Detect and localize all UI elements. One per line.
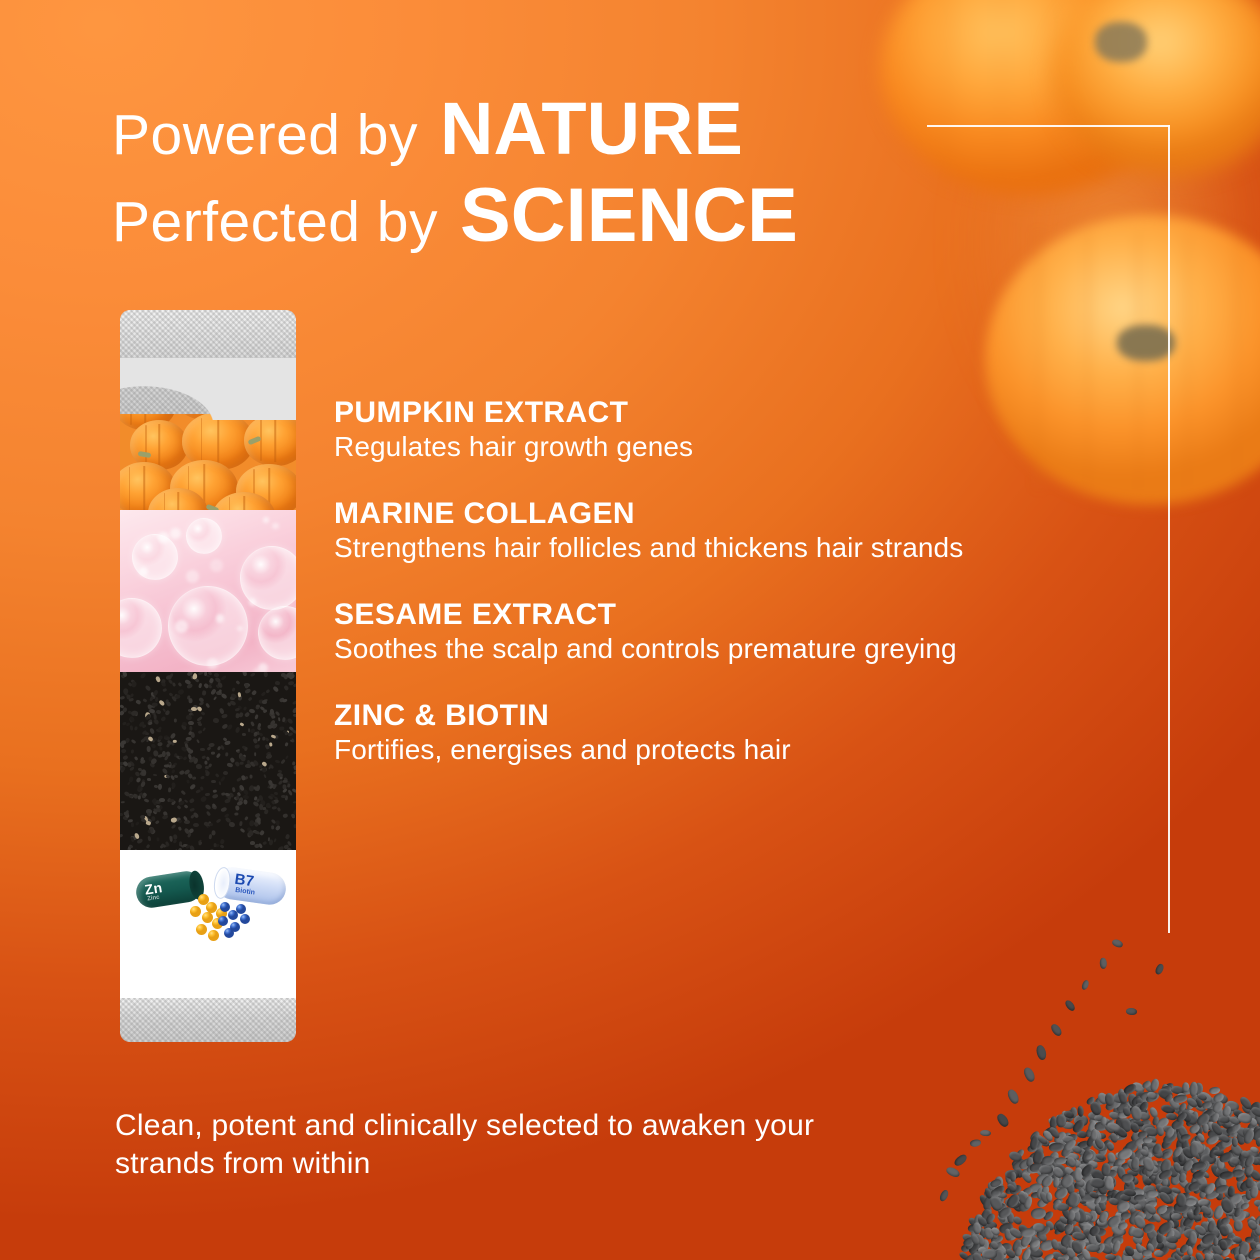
sesame-seed [197,722,202,726]
sesame-seed [218,781,221,785]
sesame-seed [244,816,249,821]
sesame-seed [204,702,210,708]
sesame-seed [130,749,134,754]
sesame-seed [287,783,291,787]
biotin-granule [218,916,228,926]
sesame-seed [131,739,137,745]
sesame-seed [219,707,225,714]
sesame-seed [293,801,296,804]
sesame-seed [265,689,270,694]
sesame-seed [202,690,206,695]
sesame-seed [220,775,226,782]
sesame-seed [293,771,296,775]
sesame-seed [1056,1202,1069,1211]
sesame-seed [274,680,279,685]
sesame-seed [249,721,254,727]
bokeh-dot [207,658,218,669]
sesame-seed [166,743,171,748]
sesame-seed [263,774,266,778]
sesame-seed [152,703,158,707]
sesame-seed [153,774,157,777]
sesame-seed [213,696,217,701]
sesame-seed [283,685,289,691]
sesame-seed [155,820,160,825]
pumpkin-stem-icon [1117,325,1175,361]
sesame-seed [235,727,240,734]
sesame-seed [273,838,277,842]
sesame-seed [127,781,131,785]
sesame-seed [240,828,246,834]
zinc-granule [208,930,219,941]
sesame-seed [133,756,138,761]
sesame-seed [1126,1008,1138,1016]
sesame-seed [157,741,163,746]
biotin-capsule-sublabel: Biotin [235,887,256,897]
sesame-seed [181,790,186,795]
capsule-panel: Zn Zinc B7 Biotin [120,850,296,998]
bokeh-dot [170,528,181,539]
sesame-seed [1080,979,1090,991]
sesame-seed [242,672,247,676]
sesame-seed [141,738,146,743]
sesame-seed [272,825,275,829]
sesame-seed [183,805,188,810]
sesame-seed [280,759,285,764]
sesame-seed [242,733,247,736]
sesame-seed [121,741,126,745]
sesame-seed [204,761,207,765]
sesame-seed [214,672,220,676]
sesame-seed [1142,1249,1152,1256]
sesame-seed [243,706,248,711]
sesame-seed [164,709,170,715]
sesame-seed [274,759,280,763]
sesame-seed [285,742,289,746]
sesame-seed [1050,1022,1064,1037]
ingredient-title: PUMPKIN EXTRACT [334,396,1014,429]
ingredient-description: Soothes the scalp and controls premature… [334,633,994,665]
sesame-seed [282,699,288,704]
sesame-seed [150,743,157,749]
sesame-seed [159,746,163,750]
sesame-seed [200,748,205,751]
ingredient-item: PUMPKIN EXTRACTRegulates hair growth gen… [334,396,1014,463]
sesame-seed [121,801,125,804]
sesame-seed [257,817,261,823]
sesame-seed [198,683,202,688]
sesame-seed [161,814,168,820]
sesame-seed [945,1165,961,1178]
sesame-seed [172,683,176,688]
sesame-seed [982,1249,997,1259]
sesame-seed [214,773,220,779]
sesame-seed [146,820,152,825]
bokeh-dot [186,570,199,583]
sesame-seed [171,824,177,830]
sesame-seed [193,823,199,827]
sesame-seed [953,1153,969,1168]
sesame-seed [1100,958,1107,969]
sesame-seed [143,698,148,702]
sesame-seed [124,688,129,694]
sesame-seed [260,830,265,836]
sesame-seed [163,688,168,692]
sesame-seed [147,835,151,840]
promo-canvas: Powered by NATURE Perfected by SCIENCE Z… [0,0,1260,1260]
sesame-seed [278,718,281,722]
sesame-seed [283,813,289,818]
sesame-seed [275,711,281,717]
sesame-seed [170,818,177,824]
sesame-seed [221,793,226,796]
bokeh-dot [263,517,269,523]
sesame-seed [243,799,248,805]
sachet-bottom-seal [120,998,296,1042]
sesame-seed [139,672,146,679]
sesame-seed [196,764,203,769]
sesame-seed [276,807,280,812]
sesame-seed [189,784,196,791]
sesame-seed [141,769,147,776]
sesame-seed [1219,1171,1233,1181]
sesame-seed [234,707,240,712]
sesame-seed [228,821,235,827]
sesame-seed [255,714,260,720]
sesame-seed [223,770,228,774]
sesame-seed [134,726,138,731]
sesame-seed [129,693,134,698]
sesame-seed [249,775,252,779]
collagen-bubble-icon [120,598,162,658]
bokeh-dot [249,598,256,605]
sesame-seed [1182,1082,1189,1092]
sesame-seed [211,794,218,800]
sesame-seed [254,752,256,756]
zinc-capsule-sublabel: Zinc [147,895,160,903]
biotin-granule [240,914,250,924]
collagen-bubble-icon [258,606,296,660]
sesame-seed [1111,938,1124,949]
sesame-seed [198,731,203,735]
sesame-seed [225,752,228,756]
sesame-seed [220,807,227,812]
sesame-seed [240,722,245,726]
sesame-seed [189,813,195,819]
sesame-seed [203,672,206,676]
ingredient-description: Strengthens hair follicles and thickens … [334,532,994,564]
sesame-seed [172,839,177,844]
sesame-seed [281,717,285,723]
sesame-seed [166,701,173,708]
sesame-seed [211,752,215,755]
ingredient-item: ZINC & BIOTINFortifies, energises and pr… [334,699,1014,766]
sesame-seed [153,750,159,757]
ingredient-description: Regulates hair growth genes [334,431,994,463]
sesame-seed [230,687,235,693]
sesame-seed [129,725,133,730]
biotin-capsule-icon: B7 Biotin [214,865,288,906]
corner-bracket-horizontal [927,125,1170,127]
sesame-seed [220,844,225,849]
sesame-seed [200,796,207,803]
sesame-seed [158,726,163,731]
biotin-granule [224,928,234,938]
sachet-tear-edge [120,358,296,420]
sesame-seed [292,788,296,793]
sesame-seed [1039,1165,1053,1174]
headline-line1-light: Powered by [112,107,418,164]
sesame-seed [264,737,269,742]
sesame-seed [178,770,184,775]
zinc-granule [196,924,207,935]
sesame-seed [244,688,251,694]
sesame-seed [164,764,170,768]
sesame-seed [254,844,260,849]
sesame-seed [205,770,210,776]
sesame-seed [199,775,204,780]
sesame-seed [254,745,259,749]
sesame-seed [157,837,160,841]
sesame-seed [245,712,251,718]
corner-bracket-vertical [1168,125,1170,933]
sesame-seed [178,682,183,687]
sesame-seed [173,719,176,723]
headline-line2-bold: SCIENCE [460,178,798,254]
sesame-seed-pile [930,930,1260,1260]
sesame-seed [149,727,155,734]
ingredient-item: SESAME EXTRACTSoothes the scalp and cont… [334,598,1014,665]
sesame-seed [282,780,287,783]
sesame-seed [1063,999,1076,1013]
sesame-seed [130,822,133,827]
sesame-seed [1105,1254,1116,1260]
sesame-seed [263,672,268,677]
sesame-seed [1180,1133,1191,1141]
sesame-seed [206,756,210,761]
sesame-seed [202,727,206,732]
sesame-seed [220,744,225,750]
sesame-seed [270,715,275,719]
sesame-seed [159,699,166,706]
sesame-seed [234,813,239,816]
ingredient-title: SESAME EXTRACT [334,598,1014,631]
biotin-granule [236,904,246,914]
headline: Powered by NATURE Perfected by SCIENCE [112,92,932,254]
sesame-seed [178,819,183,824]
sesame-seed [209,823,213,826]
sesame-seed [136,699,142,705]
bokeh-dot [210,559,223,572]
bokeh-dot [272,523,279,530]
sesame-seed [183,827,189,834]
sesame-seed [120,696,125,700]
sesame-seed [212,830,216,836]
sesame-seed [292,700,296,706]
sesame-seed [1233,1219,1243,1232]
sesame-seed [178,826,182,831]
sesame-seed [169,775,174,781]
sesame-seed [144,798,150,803]
sesame-panel [120,672,296,852]
sesame-seed [272,686,278,693]
sesame-seed [258,737,262,741]
capsule-opening [212,866,232,900]
sesame-seed [1010,1171,1016,1181]
sesame-seed [244,747,248,752]
sesame-seed [172,740,176,743]
sesame-seed [189,797,196,803]
sesame-seed [123,755,129,760]
sesame-seed [186,779,190,784]
sesame-seed [270,708,275,715]
sesame-seed [135,821,140,826]
sesame-seed [189,828,195,834]
sesame-seed [147,778,152,781]
sesame-seed [980,1130,991,1137]
sesame-seed [159,797,165,801]
sesame-seed [147,746,151,752]
sesame-seed [198,701,204,706]
sesame-seed [249,672,255,677]
ingredient-title: MARINE COLLAGEN [334,497,1014,530]
sesame-seed [125,738,131,744]
sesame-seed [276,773,282,778]
sesame-seed [269,742,272,746]
collagen-panel [120,510,296,677]
sesame-seed [147,721,152,725]
sesame-seed [121,749,126,753]
sesame-seed [972,1222,981,1235]
sesame-seed [162,767,169,774]
sesame-seed [236,800,243,806]
sesame-seed [1173,1094,1188,1104]
sesame-seed [171,769,176,774]
sesame-seed [158,784,162,790]
sesame-seed [1077,1106,1084,1117]
sesame-seed [1188,1230,1196,1244]
sesame-seed [292,714,296,718]
sesame-seed [247,697,252,702]
zinc-capsule-icon: Zn Zinc [134,869,204,910]
sesame-seed [238,821,242,827]
sesame-seed [1154,1250,1165,1258]
sesame-seed [120,834,124,839]
sesame-seed [227,723,234,730]
sesame-seed [1121,1212,1131,1219]
sesame-seed [996,1112,1011,1129]
sesame-seed [212,718,219,723]
sesame-seed [238,692,242,697]
sesame-seed [123,672,128,677]
sesame-seed [215,818,221,824]
sesame-seed [938,1189,950,1203]
sesame-seed [285,755,289,759]
ingredient-title: ZINC & BIOTIN [334,699,1014,732]
sesame-seed [286,718,293,725]
sesame-seed [1154,963,1165,976]
headline-line2-light: Perfected by [112,194,438,251]
sesame-seed [216,753,221,759]
sesame-seed [196,739,200,743]
sesame-seed [221,675,227,681]
sesame-seed [231,787,236,793]
sesame-seed [189,698,193,704]
sachet-top-seal [120,310,296,414]
bokeh-dot [216,614,224,622]
sesame-seed [152,816,156,821]
sesame-seed [267,837,270,841]
ingredient-description: Fortifies, energises and protects hair [334,734,994,766]
sesame-seed [176,805,181,810]
sesame-seed [155,709,161,714]
sesame-seed [236,680,241,685]
ingredient-item: MARINE COLLAGENStrengthens hair follicle… [334,497,1014,564]
sesame-seed [187,683,194,689]
sesame-seed [970,1139,982,1147]
sesame-seed [274,824,281,831]
sesame-seed [144,685,151,692]
sesame-seed [294,824,296,829]
footer-tagline: Clean, potent and clinically selected to… [115,1107,875,1184]
sesame-seed [200,786,204,790]
ingredient-list: PUMPKIN EXTRACTRegulates hair growth gen… [334,396,1014,800]
sesame-seed [221,713,227,718]
sesame-seed [155,804,160,808]
sesame-seed [1182,1255,1191,1260]
sesame-seed [160,716,166,722]
sesame-seed [1035,1044,1047,1061]
sesame-seed [245,764,251,768]
sesame-seed [253,830,259,835]
sesame-seed [285,834,290,840]
sesame-seed [183,756,188,761]
sesame-seed [1056,1114,1066,1127]
sesame-seed [206,811,211,817]
sesame-seed [1022,1066,1036,1083]
sesame-seed [225,741,231,746]
sesame-seed [262,700,267,704]
sesame-seed [224,798,231,804]
sesame-seed [226,763,232,768]
sesame-seed [1006,1088,1020,1105]
sesame-seed [169,732,176,739]
zinc-granule [190,906,201,917]
sesame-seed [1189,1142,1198,1157]
pumpkin-stem-icon [1095,22,1147,62]
bokeh-dot [158,532,168,542]
bokeh-dot [237,626,242,631]
sesame-seed [169,799,174,802]
sesame-seed [250,841,255,845]
sesame-seed [263,842,268,846]
product-sachet: Zn Zinc B7 Biotin [120,310,296,1042]
sesame-seed [211,779,216,783]
sesame-seed [251,690,257,696]
sesame-seed [192,777,196,780]
collagen-bubble-icon [186,518,222,554]
headline-line1-bold: NATURE [440,92,743,166]
sesame-seed [1238,1095,1253,1111]
